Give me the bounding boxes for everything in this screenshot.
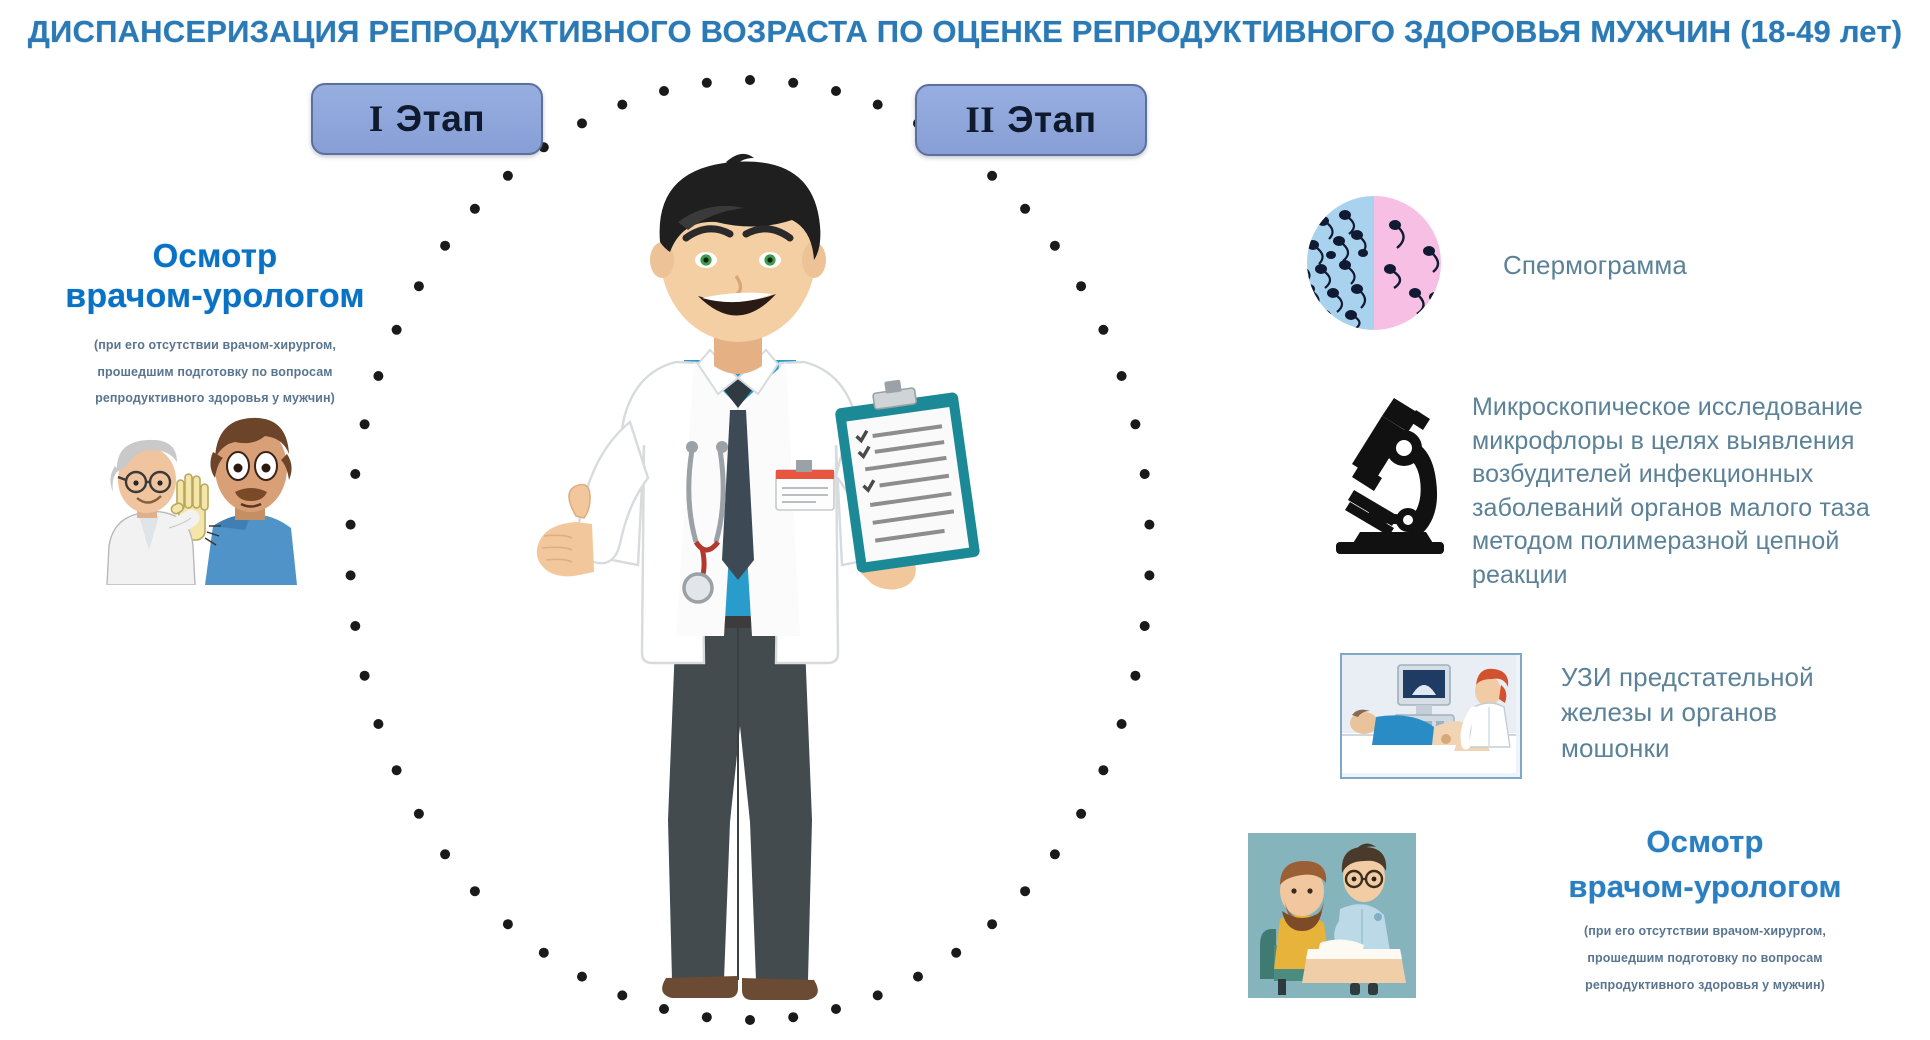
- stage-badge-1[interactable]: I Этап: [311, 83, 543, 155]
- right-stage2-urologist-block: Осмотр врачом-урологом (при его отсутств…: [1490, 820, 1920, 999]
- infographic-canvas: ДИСПАНСЕРИЗАЦИЯ РЕПРОДУКТИВНОГО ВОЗРАСТА…: [0, 0, 1930, 1000]
- left-note-line2: прошедшим подготовку по вопросам: [20, 359, 410, 386]
- stage-2-roman: II: [965, 99, 995, 142]
- stage-2-label: Этап: [1007, 99, 1096, 141]
- left-stage1-block: Осмотр врачом-урологом (при его отсутств…: [20, 236, 410, 412]
- right-heading-line1: Осмотр: [1490, 820, 1920, 865]
- right-note-line3: репродуктивного здоровья у мужчин): [1490, 972, 1920, 999]
- stage-1-label: Этап: [396, 98, 485, 140]
- ultrasound-label: УЗИ предстательной железы и органов мошо…: [1561, 660, 1891, 766]
- spermogram-label: Спермограмма: [1503, 250, 1903, 281]
- right-note-line2: прошедшим подготовку по вопросам: [1490, 945, 1920, 972]
- right-note: (при его отсутствии врачом-хирургом, про…: [1490, 918, 1920, 999]
- right-heading: Осмотр врачом-урологом: [1490, 820, 1920, 910]
- left-heading-line2: врачом-урологом: [20, 276, 410, 317]
- page-title: ДИСПАНСЕРИЗАЦИЯ РЕПРОДУКТИВНОГО ВОЗРАСТА…: [0, 14, 1930, 50]
- stage-badge-2[interactable]: II Этап: [915, 84, 1147, 156]
- right-note-line1: (при его отсутствии врачом-хирургом,: [1490, 918, 1920, 945]
- left-note-line1: (при его отсутствии врачом-хирургом,: [20, 332, 410, 359]
- right-heading-line2: врачом-урологом: [1490, 865, 1920, 910]
- ultrasound-exam-photo: [1340, 653, 1522, 779]
- central-doctor-illustration: [480, 150, 1000, 1000]
- left-heading-line1: Осмотр: [20, 236, 410, 276]
- spermogram-circle-icon: [1287, 193, 1462, 333]
- left-heading: Осмотр врачом-урологом: [20, 236, 410, 318]
- microscope-icon: [1320, 390, 1460, 555]
- pcr-microscopy-label: Микроскопическое исследование микрофлоры…: [1472, 391, 1902, 592]
- urologist-exam-cartoon: [95, 400, 335, 585]
- doctor-patient-consultation-photo: [1248, 833, 1416, 998]
- stage-1-roman: I: [369, 98, 384, 141]
